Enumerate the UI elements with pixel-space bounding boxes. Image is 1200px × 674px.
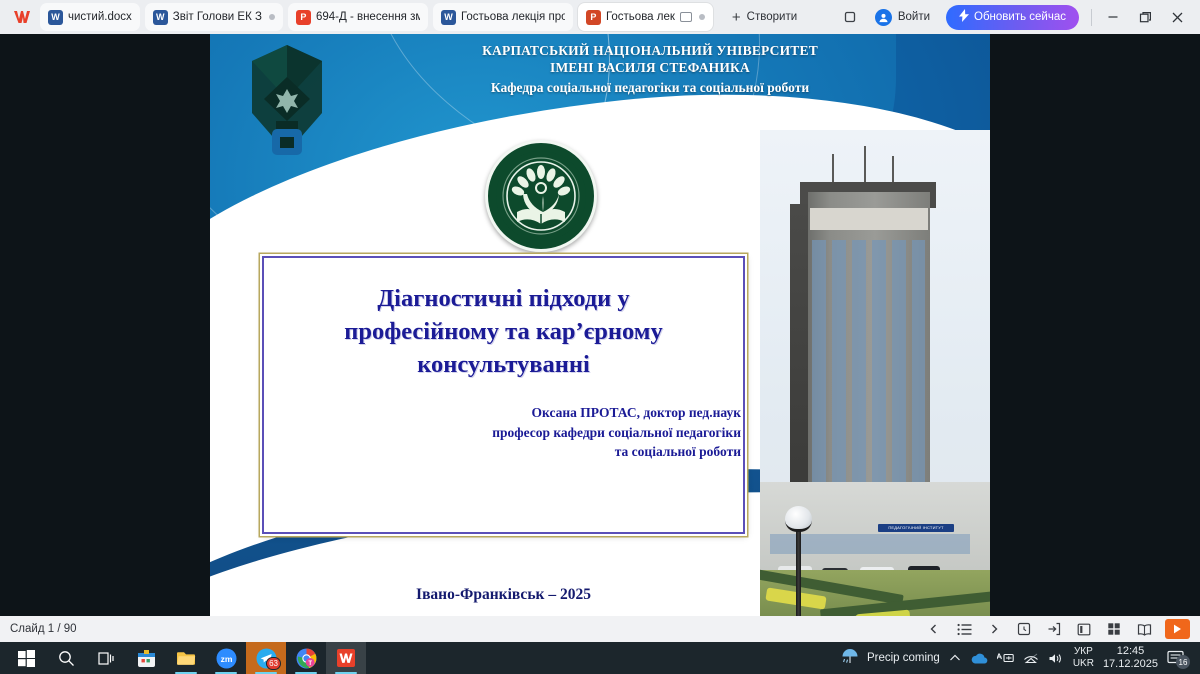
sign-in-label: Войти — [898, 11, 930, 23]
tab-unsaved-dot — [269, 14, 275, 20]
svg-text:zm: zm — [220, 654, 232, 664]
lightning-icon — [959, 9, 969, 25]
university-crest-icon — [232, 39, 342, 159]
header-line-2: ІМЕНІ ВАСИЛЯ СТЕФАНИКА — [330, 59, 970, 76]
institute-sign: ПЕДАГОГІЧНИЙ ІНСТИТУТ — [878, 524, 954, 532]
cast-icon[interactable] — [680, 12, 692, 22]
notification-center-button[interactable]: 16 — [1167, 650, 1186, 666]
slide-content-box[interactable]: Діагностичні підходи у професійному та к… — [262, 256, 745, 534]
notes-icon[interactable] — [1010, 618, 1038, 640]
update-now-button[interactable]: Обновить сейчас — [946, 5, 1079, 30]
play-slideshow-button[interactable] — [1165, 619, 1190, 639]
plus-icon: + — [732, 10, 741, 25]
tower-window-column — [912, 240, 925, 488]
tab-label: Гостьова лекція про — [461, 11, 565, 23]
clock-date: 17.12.2025 — [1103, 658, 1158, 671]
header-line-3: Кафедра соціальної педагогіки та соціаль… — [330, 78, 970, 97]
tabbar-right-group: Войти Обновить сейчас — [835, 3, 1196, 31]
screen: W чистий.docx W Звіт Голови ЕК З P 694-Д… — [0, 0, 1200, 674]
title-line-1: Діагностичні підходи у — [280, 282, 727, 315]
pdf-file-icon: P — [296, 10, 311, 25]
weather-label: Precip coming — [867, 652, 940, 664]
volume-icon[interactable] — [1048, 652, 1064, 665]
precipitation-icon — [840, 648, 860, 669]
minimize-button[interactable] — [1098, 3, 1128, 31]
tower-window-column — [812, 240, 826, 488]
wifi-icon[interactable] — [1023, 652, 1039, 665]
tower-window-column — [892, 240, 906, 488]
system-tray: Precip coming УКР UKR 12:45 — [840, 645, 1194, 671]
svg-text:T: T — [308, 661, 312, 667]
new-tab-label: Створити — [747, 11, 797, 23]
chrome-button[interactable]: T — [286, 642, 326, 674]
status-bar: Слайд 1 / 90 — [0, 616, 1200, 642]
task-view-button[interactable] — [86, 642, 126, 674]
input-indicator-icon[interactable] — [997, 652, 1014, 665]
start-button[interactable] — [6, 642, 46, 674]
tab-unsaved-dot — [699, 14, 705, 20]
maximize-button[interactable] — [1130, 3, 1160, 31]
browser-tab-bar: W чистий.docx W Звіт Голови ЕК З P 694-Д… — [0, 0, 1200, 34]
search-button[interactable] — [46, 642, 86, 674]
next-slide-button[interactable] — [980, 618, 1008, 640]
sign-in-button[interactable]: Войти — [867, 4, 938, 30]
reading-view-icon[interactable] — [1070, 618, 1098, 640]
tab-1[interactable]: W Звіт Голови ЕК З — [145, 3, 283, 31]
word-file-icon: W — [153, 10, 168, 25]
tower-band — [810, 208, 928, 230]
street-lamp-pole — [796, 522, 801, 616]
windows-taskbar: zm 63 T Pr — [0, 642, 1200, 674]
university-emblem-icon — [485, 140, 597, 252]
tower-window-column — [872, 240, 886, 488]
copy-window-icon[interactable] — [835, 4, 865, 30]
building-photo: ПЕДАГОГІЧНИЙ ІНСТИТУТ — [760, 130, 990, 616]
tab-label: Гостьова лек — [606, 11, 675, 23]
slide-title: Діагностичні підходи у професійному та к… — [264, 282, 743, 381]
language-bottom: UKR — [1073, 658, 1094, 670]
outline-list-icon[interactable] — [950, 618, 978, 640]
grid-view-icon[interactable] — [1100, 618, 1128, 640]
title-line-2: професійному та кар’єрному — [280, 315, 727, 348]
notification-badge: 16 — [1176, 655, 1190, 669]
telegram-button[interactable]: 63 — [246, 642, 286, 674]
clock[interactable]: 12:45 17.12.2025 — [1103, 645, 1158, 671]
slide-header: КАРПАТСЬКИЙ НАЦІОНАЛЬНИЙ УНІВЕРСИТЕТ ІМЕ… — [330, 42, 970, 97]
presentation-stage: КАРПАТСЬКИЙ НАЦІОНАЛЬНИЙ УНІВЕРСИТЕТ ІМЕ… — [0, 34, 1200, 616]
slide-counter: Слайд 1 / 90 — [10, 623, 77, 635]
street-lamp-head — [785, 506, 812, 532]
tab-3[interactable]: W Гостьова лекція про — [433, 3, 573, 31]
author-line-1: Оксана ПРОТАС, доктор пед.наук — [264, 403, 741, 423]
tab-label: Звіт Голови ЕК З — [173, 11, 262, 23]
tab-4-active[interactable]: P Гостьова лек — [578, 3, 713, 31]
book-view-icon[interactable] — [1130, 618, 1158, 640]
file-explorer-button[interactable] — [166, 642, 206, 674]
tab-label: чистий.docx — [68, 11, 132, 23]
export-icon[interactable] — [1040, 618, 1068, 640]
onedrive-icon[interactable] — [970, 652, 988, 665]
show-hidden-icons-chevron-up-icon[interactable] — [949, 653, 961, 663]
wps-logo-icon[interactable] — [10, 4, 36, 30]
microsoft-store-button[interactable] — [126, 642, 166, 674]
tab-2[interactable]: P 694-Д - внесення зм — [288, 3, 428, 31]
tower-window-column — [832, 240, 846, 488]
tab-label: 694-Д - внесення зм — [316, 11, 420, 23]
powerpoint-file-icon: P — [586, 10, 601, 25]
clock-time: 12:45 — [1103, 645, 1158, 658]
language-indicator[interactable]: УКР UKR — [1073, 646, 1094, 670]
avatar — [875, 9, 892, 26]
language-top: УКР — [1073, 646, 1094, 658]
close-button[interactable] — [1162, 3, 1192, 31]
view-controls — [920, 618, 1190, 640]
telegram-badge: 63 — [266, 657, 281, 670]
weather-widget[interactable]: Precip coming — [840, 648, 940, 669]
new-tab-button[interactable]: + Створити — [724, 4, 805, 30]
slide-author-block: Оксана ПРОТАС, доктор пед.наук професор … — [264, 403, 743, 462]
word-file-icon: W — [48, 10, 63, 25]
tab-0[interactable]: W чистий.docx — [40, 3, 140, 31]
tower-window-column — [852, 240, 866, 488]
author-line-2: професор кафедри соціальної педагогіки — [264, 423, 741, 443]
divider — [1091, 9, 1092, 26]
slide-footer: Івано-Франківськ – 2025 — [262, 586, 745, 604]
title-line-3: консультуванні — [280, 348, 727, 381]
previous-slide-button[interactable] — [920, 618, 948, 640]
header-line-1: КАРПАТСЬКИЙ НАЦІОНАЛЬНИЙ УНІВЕРСИТЕТ — [330, 42, 970, 59]
slide-canvas[interactable]: КАРПАТСЬКИЙ НАЦІОНАЛЬНИЙ УНІВЕРСИТЕТ ІМЕ… — [210, 34, 990, 616]
word-file-icon: W — [441, 10, 456, 25]
author-line-3: та соціальної роботи — [264, 442, 741, 462]
zoom-button[interactable]: zm — [206, 642, 246, 674]
update-label: Обновить сейчас — [974, 11, 1066, 23]
wps-office-button[interactable] — [326, 642, 366, 674]
